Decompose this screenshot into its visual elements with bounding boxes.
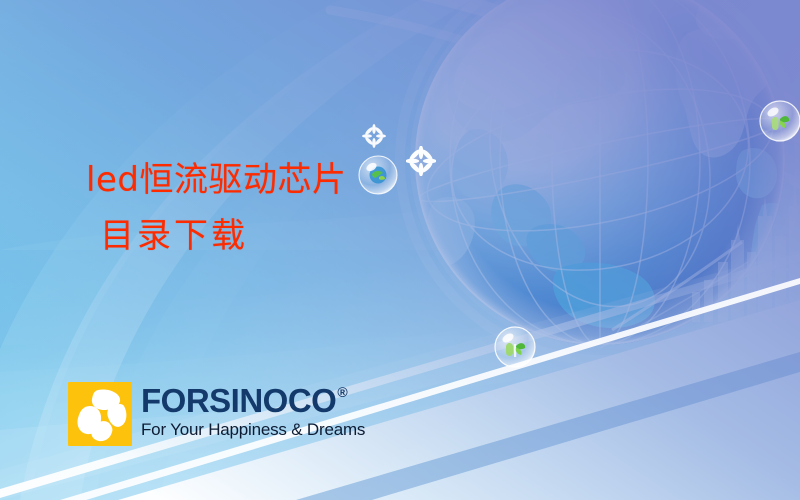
logo-text-lockup: FORSINOCO ® For Your Happiness & Dreams bbox=[141, 382, 365, 438]
bubble-sprout-icon bbox=[494, 326, 536, 368]
sparkle-flower-large-icon bbox=[406, 146, 436, 176]
promo-banner: led恒流驱动芯片 目录下载 FORSINOCO ® For Your Happ… bbox=[0, 0, 800, 500]
logo-wordmark-text: FORSINOCO bbox=[141, 384, 336, 417]
headline-line-1: led恒流驱动芯片 bbox=[86, 163, 346, 197]
bubble-globe-icon bbox=[358, 155, 398, 195]
sparkle-flower-small-icon bbox=[362, 124, 386, 148]
headline-line-2: 目录下载 bbox=[86, 219, 346, 253]
bubble-leaf-icon bbox=[759, 100, 800, 142]
logo-wordmark-row: FORSINOCO ® bbox=[141, 384, 365, 417]
logo-tagline: For Your Happiness & Dreams bbox=[141, 421, 365, 438]
forsinoco-pinwheel-mark-icon bbox=[68, 382, 132, 446]
page-title: led恒流驱动芯片 目录下载 bbox=[86, 163, 346, 253]
registered-trademark-symbol: ® bbox=[337, 385, 347, 399]
brand-logo[interactable]: FORSINOCO ® For Your Happiness & Dreams bbox=[68, 382, 365, 446]
